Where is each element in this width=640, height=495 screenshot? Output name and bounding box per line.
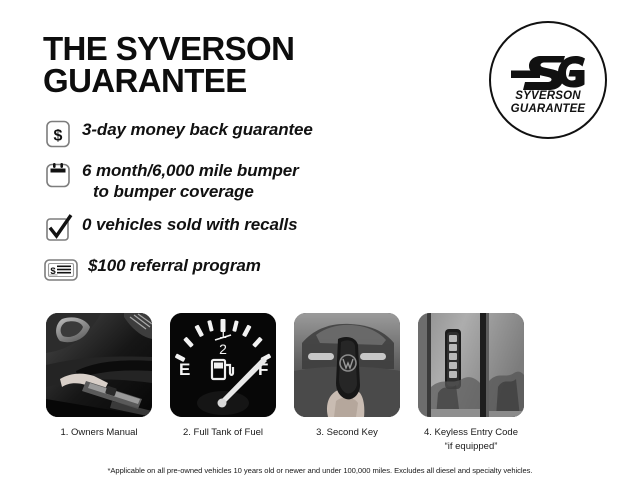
- svg-text:2: 2: [219, 341, 227, 357]
- door-keypad-photo: [418, 313, 524, 417]
- guarantee-text-line-1: 6 month/6,000 mile bumper: [82, 161, 299, 180]
- badge-subtitle: SYVERSON GUARANTEE: [511, 90, 586, 116]
- check-voucher-icon: $: [43, 255, 79, 285]
- dollar-sign-icon: $: [43, 119, 73, 149]
- calendar-icon: [43, 160, 73, 190]
- guarantee-text-line-1: 3-day money back guarantee: [82, 120, 313, 139]
- photo-caption-line-1: 3. Second Key: [316, 427, 378, 438]
- photo-caption: 2. Full Tank of Fuel: [170, 426, 276, 440]
- car-interior-owners-manual-photo: [46, 313, 152, 417]
- syverson-guarantee-badge: SYVERSON GUARANTEE: [489, 21, 607, 139]
- fuel-gauge-full-photo: E F 1 2: [170, 313, 276, 417]
- syverson-guarantee-graphic: THE SYVERSON GUARANTEE SYVERSON GUARANTE…: [0, 0, 640, 495]
- page-title-line-1: THE SYVERSON: [43, 33, 403, 65]
- guarantee-item-text: 3-day money back guarantee: [82, 118, 313, 141]
- photo-cell-owners-manual: 1. Owners Manual: [46, 313, 152, 454]
- guarantee-item-no-recalls: 0 vehicles sold with recalls: [43, 213, 443, 243]
- page-title: THE SYVERSON GUARANTEE: [43, 33, 403, 96]
- photo-cell-keyless-entry: 4. Keyless Entry Code “if equipped”: [418, 313, 524, 454]
- badge-subtitle-line-1: SYVERSON: [511, 90, 586, 103]
- guarantee-item-money-back: $ 3-day money back guarantee: [43, 118, 443, 148]
- photo-cell-full-tank: E F 1 2 2. Ful: [170, 313, 276, 454]
- sg-monogram-icon: [510, 48, 586, 90]
- badge-subtitle-line-2: GUARANTEE: [511, 103, 586, 116]
- guarantee-text-line-2: to bumper coverage: [82, 182, 299, 203]
- guarantee-item-text: 6 month/6,000 mile bumper to bumper cove…: [82, 159, 299, 202]
- photo-strip: 1. Owners Manual: [46, 313, 606, 454]
- checkbox-checked-icon: [43, 214, 73, 244]
- guarantee-item-text: $100 referral program: [88, 254, 261, 277]
- svg-text:$: $: [54, 128, 63, 145]
- guarantee-text-line-1: $100 referral program: [88, 256, 261, 275]
- photo-caption-line-1: 1. Owners Manual: [60, 427, 137, 438]
- photo-caption-line-1: 2. Full Tank of Fuel: [183, 427, 263, 438]
- photo-caption-line-1: 4. Keyless Entry Code: [424, 427, 518, 438]
- footnote-disclaimer: *Applicable on all pre-owned vehicles 10…: [0, 466, 640, 475]
- photo-caption-line-2: “if equipped”: [418, 440, 524, 454]
- page-title-line-2: GUARANTEE: [43, 65, 403, 97]
- guarantee-text-line-1: 0 vehicles sold with recalls: [82, 215, 297, 234]
- photo-cell-second-key: 3. Second Key: [294, 313, 400, 454]
- guarantee-list: $ 3-day money back guarantee 6 month/6,0…: [43, 118, 443, 295]
- guarantee-item-text: 0 vehicles sold with recalls: [82, 213, 297, 236]
- guarantee-item-referral: $ $100 referral program: [43, 254, 443, 284]
- photo-caption: 3. Second Key: [294, 426, 400, 440]
- photo-caption: 4. Keyless Entry Code “if equipped”: [418, 426, 524, 454]
- hand-holding-key-fob-photo: [294, 313, 400, 417]
- svg-text:E: E: [179, 360, 190, 379]
- guarantee-item-bumper-coverage: 6 month/6,000 mile bumper to bumper cove…: [43, 159, 443, 202]
- photo-caption: 1. Owners Manual: [46, 426, 152, 440]
